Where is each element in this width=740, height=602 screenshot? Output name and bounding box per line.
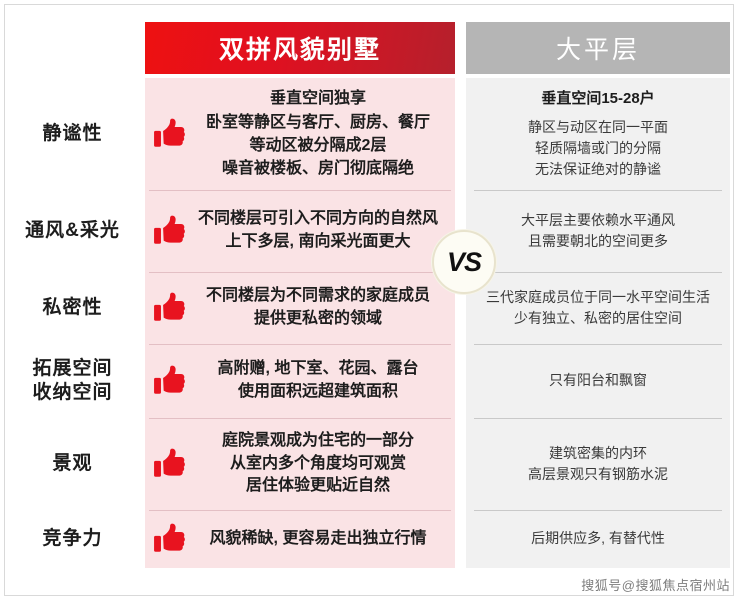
villa-cell: 垂直空间独享卧室等静区与客厅、厨房、餐厅等动区被分隔成2层噪音被楼板、房门彻底隔… [145, 78, 455, 190]
criteria-label-text: 竞争力 [42, 527, 102, 551]
flat-cell: 建筑密集的内环高层景观只有钢筋水泥 [466, 418, 730, 510]
villa-cell-line: 等动区被分隔成2层 [191, 135, 445, 158]
villa-cell: 风貌稀缺, 更容易走出独立行情 [145, 510, 455, 568]
flat-cell-text: 大平层主要依赖水平通风且需要朝北的空间更多 [466, 210, 730, 253]
criteria-label: 私密性 [0, 272, 145, 344]
villa-cell-line: 上下多层, 南向采光面更大 [191, 231, 445, 254]
flat-cell-line: 大平层主要依赖水平通风 [466, 210, 730, 231]
villa-cell-line: 高附赠, 地下室、花园、露台 [191, 358, 445, 381]
villa-cell-text: 高附赠, 地下室、花园、露台使用面积远超建筑面积 [191, 358, 445, 403]
flat-cell-line: 建筑密集的内环 [466, 443, 730, 464]
flat-cell-line: 三代家庭成员位于同一水平空间生活 [466, 287, 730, 308]
villa-column: 垂直空间独享卧室等静区与客厅、厨房、餐厅等动区被分隔成2层噪音被楼板、房门彻底隔… [145, 78, 455, 568]
villa-cell-text: 不同楼层可引入不同方向的自然风上下多层, 南向采光面更大 [191, 208, 445, 253]
table-header-row: 双拼风貌别墅 大平层 [0, 22, 740, 74]
flat-cell: 垂直空间15-28户静区与动区在同一平面轻质隔墙或门的分隔无法保证绝对的静谧 [466, 78, 730, 190]
criteria-label: 静谧性 [0, 78, 145, 190]
flat-cell: 只有阳台和飘窗 [466, 344, 730, 418]
flat-column: 垂直空间15-28户静区与动区在同一平面轻质隔墙或门的分隔无法保证绝对的静谧大平… [466, 78, 730, 568]
criteria-label: 通风&采光 [0, 190, 145, 272]
villa-cell: 庭院景观成为住宅的一部分从室内多个角度均可观赏居住体验更贴近自然 [145, 418, 455, 510]
villa-cell-text: 不同楼层为不同需求的家庭成员提供更私密的领域 [191, 285, 445, 330]
flat-cell-text: 三代家庭成员位于同一水平空间生活少有独立、私密的居住空间 [466, 287, 730, 330]
column-header-villa: 双拼风貌别墅 [145, 22, 455, 74]
villa-cell: 高附赠, 地下室、花园、露台使用面积远超建筑面积 [145, 344, 455, 418]
vs-badge: VS [432, 230, 496, 294]
flat-cell: 三代家庭成员位于同一水平空间生活少有独立、私密的居住空间 [466, 272, 730, 344]
thumbs-up-icon [153, 522, 187, 556]
criteria-label-text: 通风&采光 [25, 219, 120, 243]
villa-cell-line: 从室内多个角度均可观赏 [191, 453, 445, 476]
villa-cell-line: 居住体验更贴近自然 [191, 475, 445, 498]
criteria-label-column: 静谧性通风&采光私密性拓展空间 收纳空间景观竞争力 [0, 78, 145, 568]
flat-cell-line: 无法保证绝对的静谧 [466, 159, 730, 180]
watermark: 搜狐号@搜狐焦点宿州站 [581, 575, 730, 594]
flat-cell-text: 建筑密集的内环高层景观只有钢筋水泥 [466, 443, 730, 486]
flat-cell-line: 后期供应多, 有替代性 [466, 528, 730, 549]
thumbs-up-icon [153, 447, 187, 481]
flat-cell-line: 只有阳台和飘窗 [466, 370, 730, 391]
thumbs-up-icon [153, 291, 187, 325]
flat-cell: 后期供应多, 有替代性 [466, 510, 730, 568]
villa-cell: 不同楼层可引入不同方向的自然风上下多层, 南向采光面更大 [145, 190, 455, 272]
thumbs-up-icon [153, 117, 187, 151]
column-header-flat: 大平层 [466, 22, 730, 74]
flat-cell-text: 后期供应多, 有替代性 [466, 528, 730, 549]
flat-cell-lead: 垂直空间15-28户 [466, 88, 730, 111]
villa-cell-line: 噪音被楼板、房门彻底隔绝 [191, 158, 445, 181]
villa-cell: 不同楼层为不同需求的家庭成员提供更私密的领域 [145, 272, 455, 344]
villa-cell-lead: 垂直空间独享 [191, 88, 445, 111]
villa-cell-line: 风貌稀缺, 更容易走出独立行情 [191, 528, 445, 551]
villa-cell-line: 卧室等静区与客厅、厨房、餐厅 [191, 112, 445, 135]
flat-cell-line: 且需要朝北的空间更多 [466, 231, 730, 252]
criteria-label-text: 私密性 [42, 296, 102, 320]
table-body: 静谧性通风&采光私密性拓展空间 收纳空间景观竞争力 垂直空间独享卧室等静区与客厅… [0, 78, 740, 568]
criteria-label: 拓展空间 收纳空间 [0, 344, 145, 418]
flat-cell-text: 只有阳台和飘窗 [466, 370, 730, 391]
villa-cell-text: 风貌稀缺, 更容易走出独立行情 [191, 528, 445, 551]
criteria-label-text: 静谧性 [42, 122, 102, 146]
criteria-label-text: 拓展空间 收纳空间 [32, 357, 112, 406]
flat-cell-text: 垂直空间15-28户静区与动区在同一平面轻质隔墙或门的分隔无法保证绝对的静谧 [466, 88, 730, 181]
criteria-label: 景观 [0, 418, 145, 510]
villa-cell-line: 不同楼层可引入不同方向的自然风 [191, 208, 445, 231]
thumbs-up-icon [153, 214, 187, 248]
flat-cell: 大平层主要依赖水平通风且需要朝北的空间更多 [466, 190, 730, 272]
villa-cell-line: 不同楼层为不同需求的家庭成员 [191, 285, 445, 308]
criteria-label: 竞争力 [0, 510, 145, 568]
flat-cell-line: 高层景观只有钢筋水泥 [466, 464, 730, 485]
villa-cell-text: 庭院景观成为住宅的一部分从室内多个角度均可观赏居住体验更贴近自然 [191, 430, 445, 498]
comparison-table: 双拼风貌别墅 大平层 静谧性通风&采光私密性拓展空间 收纳空间景观竞争力 垂直空… [0, 0, 740, 602]
flat-cell-line: 静区与动区在同一平面 [466, 117, 730, 138]
villa-cell-line: 使用面积远超建筑面积 [191, 381, 445, 404]
villa-cell-line: 提供更私密的领域 [191, 308, 445, 331]
thumbs-up-icon [153, 364, 187, 398]
villa-cell-text: 垂直空间独享卧室等静区与客厅、厨房、餐厅等动区被分隔成2层噪音被楼板、房门彻底隔… [191, 88, 445, 181]
criteria-label-text: 景观 [52, 452, 92, 476]
flat-cell-line: 轻质隔墙或门的分隔 [466, 138, 730, 159]
flat-cell-line: 少有独立、私密的居住空间 [466, 308, 730, 329]
villa-cell-line: 庭院景观成为住宅的一部分 [191, 430, 445, 453]
